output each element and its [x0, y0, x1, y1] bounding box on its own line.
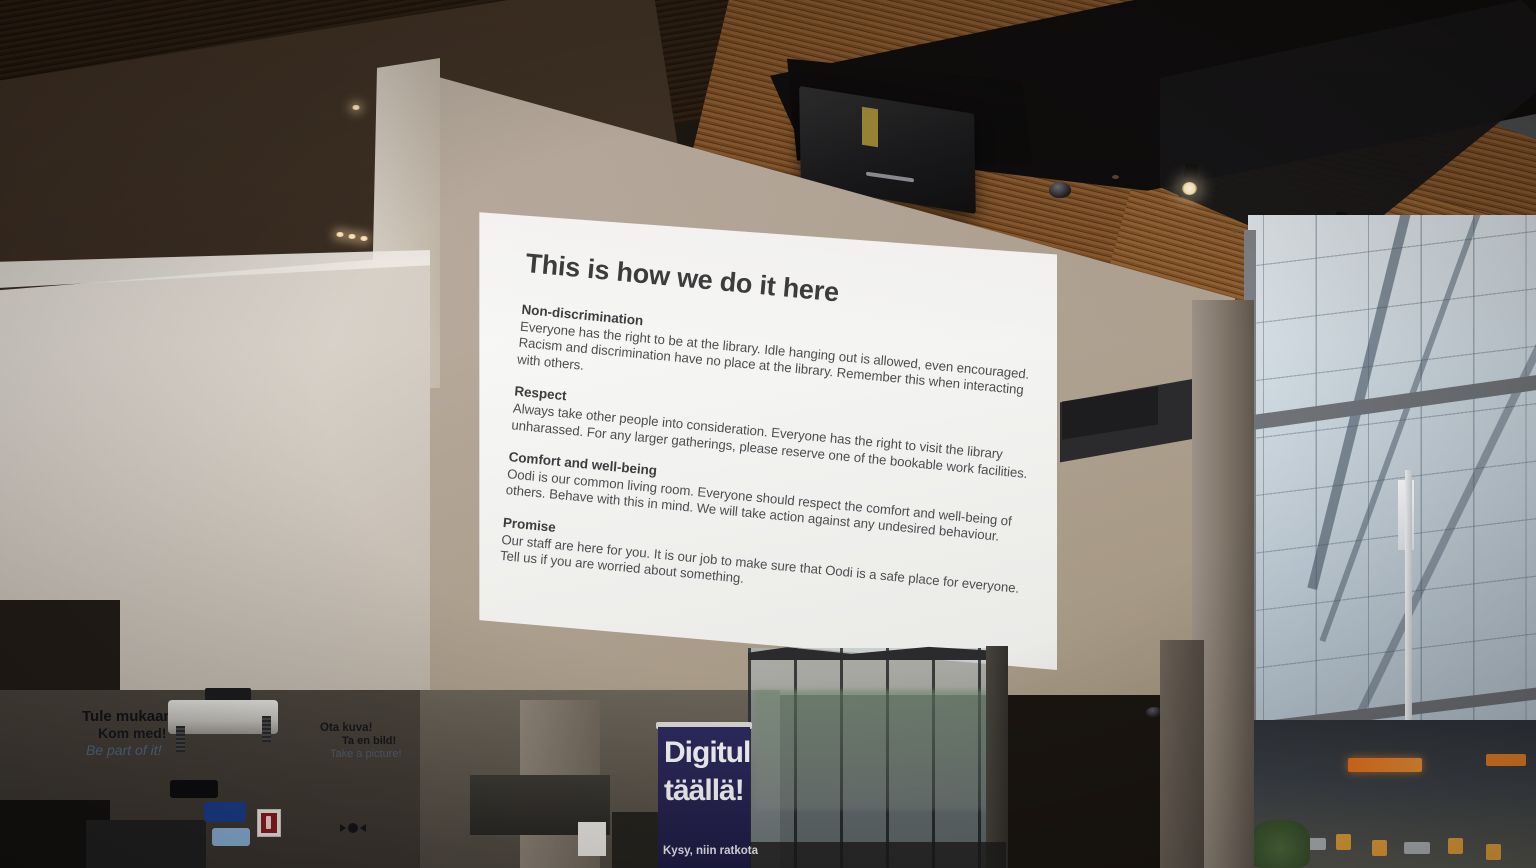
- speech-bubble-decal: [170, 780, 218, 798]
- downlight-icon: [336, 232, 344, 237]
- posted-notice: [578, 822, 606, 856]
- wayfinding-graphic: [336, 820, 370, 836]
- downlight-icon: [352, 105, 360, 110]
- banner-line-1: Digitul: [664, 737, 756, 769]
- cafe-table: [1404, 842, 1430, 854]
- wall-signage-photo: Ota kuva! Ta en bild! Take a picture!: [320, 722, 510, 761]
- shop-sign: [1348, 758, 1422, 772]
- signage-line-fi: Ota kuva!: [320, 722, 510, 735]
- exterior-greenery: [1250, 820, 1310, 868]
- dome-camera-icon: [1049, 182, 1071, 198]
- wayfinding-dot-icon: [348, 823, 358, 833]
- cafe-chair: [1486, 844, 1501, 860]
- fire-extinguisher-icon: [266, 816, 271, 829]
- banner-line-3: Kysy, niin ratkota: [663, 845, 759, 857]
- cafe-chair: [1372, 840, 1387, 856]
- service-counter: [86, 820, 206, 868]
- glass-reflection: [755, 690, 999, 810]
- structural-pillar-secondary: [1160, 640, 1204, 868]
- downlight-icon: [348, 234, 356, 239]
- signage-line-en: Be part of it!: [82, 742, 312, 759]
- downlight-icon: [360, 236, 368, 241]
- ceiling-recess-dot: [1112, 175, 1119, 179]
- cafe-chair: [1448, 838, 1463, 854]
- projector-foot: [176, 726, 185, 752]
- glass-enclosure-base: [748, 842, 1006, 868]
- arrow-left-icon: [360, 824, 366, 832]
- projector-foot: [262, 716, 271, 742]
- cafe-chair: [1336, 834, 1351, 850]
- projector-label-plate: [862, 107, 878, 148]
- shop-sign-secondary: [1486, 754, 1526, 766]
- arrow-right-icon: [340, 824, 346, 832]
- banner-line-2: täällä!: [664, 775, 756, 807]
- glass-enclosure-frame: [986, 646, 1008, 868]
- spotlight-glow: [1182, 182, 1197, 195]
- signage-line-en: Take a picture!: [320, 748, 510, 761]
- speech-bubble-decal: [212, 828, 250, 846]
- signage-line-sv: Ta en bild!: [320, 735, 510, 748]
- ceiling-recess-dot: [1232, 229, 1239, 233]
- projection-screen: [477, 200, 1057, 670]
- photo-scene: This is how we do it here Non-discrimina…: [0, 0, 1536, 868]
- speech-bubble-decal: [204, 802, 246, 822]
